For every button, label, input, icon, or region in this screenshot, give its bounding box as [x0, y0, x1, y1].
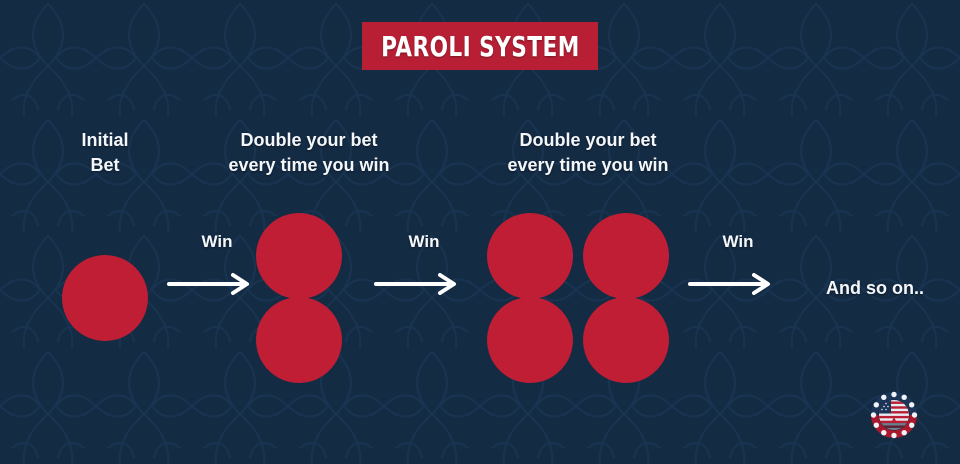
bet-chip	[256, 213, 342, 299]
connector-label: Win	[374, 232, 474, 252]
bet-chip	[583, 297, 669, 383]
title-banner: PAROLI SYSTEM	[362, 22, 598, 70]
bet-chip	[583, 213, 669, 299]
connector-win-2: Win	[374, 232, 474, 310]
bet-chip	[256, 297, 342, 383]
usa-flag-badge-icon	[866, 387, 922, 443]
chip-group-step-2	[256, 213, 342, 383]
connector-win-3: Win	[688, 232, 788, 310]
page-title: PAROLI SYSTEM	[381, 30, 580, 63]
step-heading-initial-bet: Initial Bet	[40, 128, 170, 178]
connector-label: Win	[167, 232, 267, 252]
step-heading-double-1: Double your bet every time you win	[197, 128, 421, 178]
step-heading-double-2: Double your bet every time you win	[468, 128, 708, 178]
connector-win-1: Win	[167, 232, 267, 310]
arrow-right-icon	[167, 272, 259, 296]
paroli-system-infographic: PAROLI SYSTEM Initial Bet Double your be…	[0, 0, 960, 464]
bet-chip	[487, 297, 573, 383]
arrow-right-icon	[688, 272, 780, 296]
bet-chip	[62, 255, 148, 341]
connector-label: Win	[688, 232, 788, 252]
chip-group-step-1	[62, 255, 148, 341]
arrow-right-icon	[374, 272, 466, 296]
chip-group-step-3	[487, 213, 669, 383]
and-so-on-label: And so on..	[800, 278, 950, 299]
bet-chip	[487, 213, 573, 299]
